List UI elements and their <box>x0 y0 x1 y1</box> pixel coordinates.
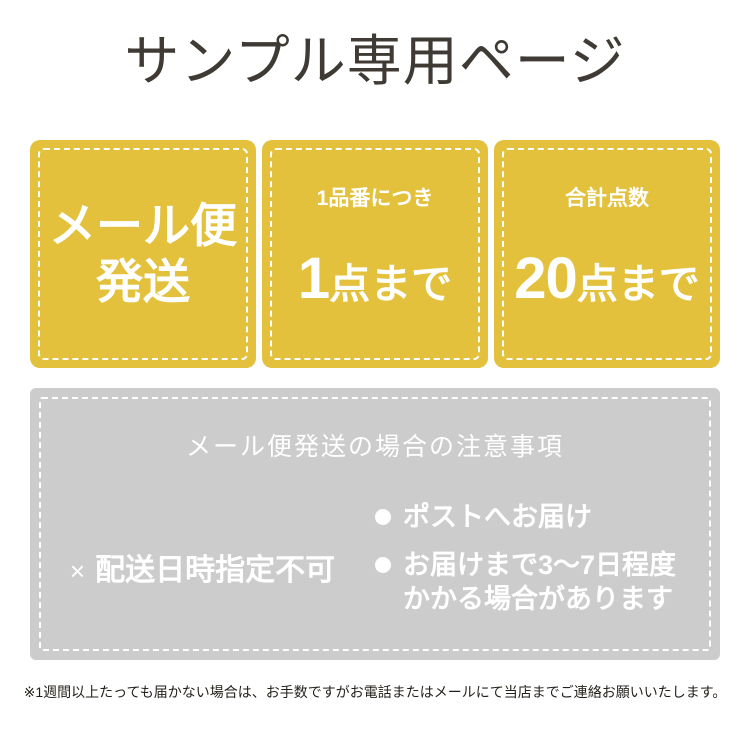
notice-panel: メール便発送の場合の注意事項 ×配送日時指定不可 ポストへお届け お届 <box>30 388 720 660</box>
page-title: サンプル専用ページ <box>0 28 750 94</box>
card-per-item-limit-number: 1 <box>298 246 329 311</box>
cross-mark-icon: × <box>70 556 85 586</box>
notice-heading: メール便発送の場合の注意事項 <box>30 432 720 462</box>
card-total-limit-value: 20点まで <box>494 250 720 323</box>
card-shipping-method-content: メール便 発送 <box>30 198 256 310</box>
bullet-dot-icon <box>375 557 391 573</box>
card-per-item-limit-value: 1点まで <box>262 250 488 323</box>
footer-note: ※1週間以上たっても届かない場合は、お手数ですがお電話またはメールにて当店までご… <box>0 682 750 702</box>
card-shipping-method-line1: メール便 <box>30 198 256 254</box>
card-shipping-method-line2: 発送 <box>30 254 256 310</box>
notice-bullet-2-text: お届けまで3〜7日程度 かかる場合があります <box>403 548 676 616</box>
card-total-limit-caption: 合計点数 <box>494 186 720 212</box>
notice-restriction-label: 配送日時指定不可 <box>95 554 335 587</box>
notice-bullet-1-line1: ポストへお届け <box>403 502 592 532</box>
bullet-dot-icon <box>375 509 391 525</box>
notice-restriction: ×配送日時指定不可 <box>30 496 375 646</box>
list-item: ポストへお届け <box>375 500 720 534</box>
card-total-limit-number: 20 <box>514 246 577 311</box>
card-per-item-limit-content: 1品番につき 1点まで <box>262 186 488 323</box>
notice-restriction-text: ×配送日時指定不可 <box>70 552 335 590</box>
list-item: お届けまで3〜7日程度 かかる場合があります <box>375 548 720 616</box>
card-per-item-limit-caption: 1品番につき <box>262 186 488 212</box>
card-total-limit-unit: 点まで <box>577 261 700 307</box>
notice-bullet-2-line1: お届けまで3〜7日程度 <box>403 550 676 580</box>
card-total-limit-content: 合計点数 20点まで <box>494 186 720 323</box>
card-per-item-limit: 1品番につき 1点まで <box>262 140 488 368</box>
notice-bullet-2-line2: かかる場合があります <box>403 582 676 616</box>
card-total-limit: 合計点数 20点まで <box>494 140 720 368</box>
notice-body: ×配送日時指定不可 ポストへお届け お届けまで3〜7日程度 かかる場合があります <box>30 496 720 646</box>
card-per-item-limit-unit: 点まで <box>329 261 452 307</box>
card-shipping-method: メール便 発送 <box>30 140 256 368</box>
sample-shipping-banner: サンプル専用ページ メール便 発送 1品番につき 1点まで 合計点数 <box>0 0 750 750</box>
notice-bullet-1-text: ポストへお届け <box>403 500 592 534</box>
notice-bullet-list: ポストへお届け お届けまで3〜7日程度 かかる場合があります <box>375 496 720 630</box>
info-cards-row: メール便 発送 1品番につき 1点まで 合計点数 20点まで <box>30 140 720 368</box>
